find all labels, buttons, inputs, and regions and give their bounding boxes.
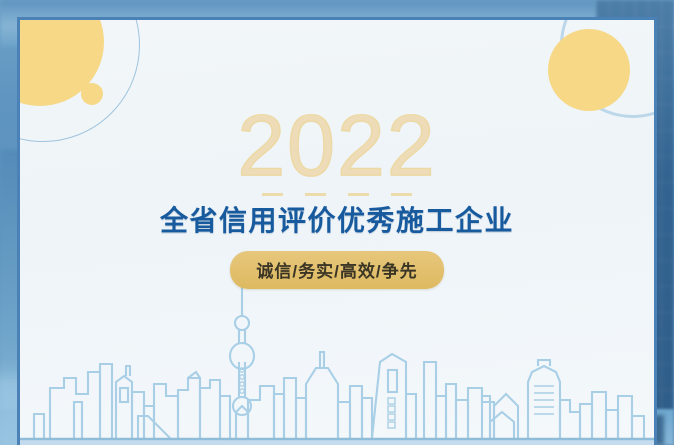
year-heading: 2022 <box>20 103 654 189</box>
poster-content: 2022 2022 全省信用评价优秀施工企业 诚信/务实/高效/争先 <box>20 20 654 445</box>
poster-canvas: 2022 2022 全省信用评价优秀施工企业 诚信/务实/高效/争先 <box>0 0 674 445</box>
slogan-badge: 诚信/务实/高效/争先 <box>230 251 443 289</box>
year-baseline-decor <box>20 183 654 201</box>
page-title: 全省信用评价优秀施工企业 <box>20 202 654 240</box>
slogan-badge-wrap: 诚信/务实/高效/争先 <box>20 251 654 289</box>
poster-card: 2022 2022 全省信用评价优秀施工企业 诚信/务实/高效/争先 <box>17 17 657 445</box>
